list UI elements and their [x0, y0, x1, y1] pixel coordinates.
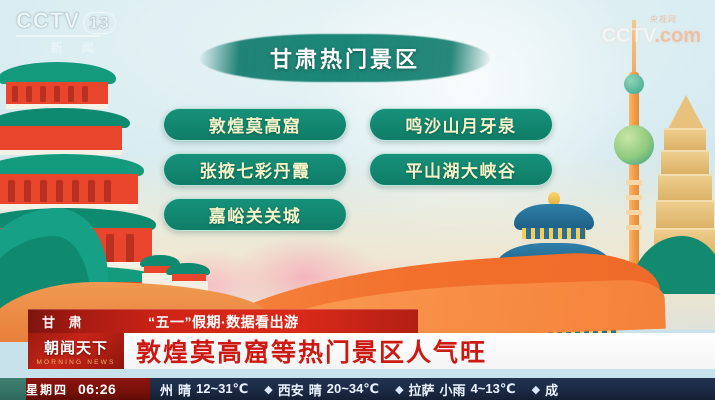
program-name-en: MORNING NEWS [36, 359, 115, 366]
program-name-cn: 朝闻天下 [44, 337, 108, 358]
cctv-logo-underline [16, 35, 100, 37]
weather-condition-2: 小雨 [440, 380, 466, 399]
spot-item-2: 张掖七彩丹霞 [163, 153, 347, 186]
weather-city-2: 拉萨 [409, 380, 435, 399]
weather-temp-1: 20~34℃ [327, 381, 379, 397]
weather-condition-0: 晴 [178, 380, 191, 399]
cctv-logo-text: CCTV [16, 8, 80, 33]
headline-text: 敦煌莫高窟等热门景区人气旺 [124, 333, 715, 369]
weekday-label: 星期四 [26, 381, 68, 398]
spot-item-1: 鸣沙山月牙泉 [369, 108, 553, 141]
weather-temp-0: 12~31℃ [196, 381, 248, 397]
cctv13-channel-logo: CCTV13 新 闻 [16, 8, 136, 52]
weather-item-0: 州 晴 12~31℃ [160, 380, 248, 399]
bullet-icon: ◆ [532, 383, 540, 396]
lower-third: 甘 肃 “五一”假期·数据看出游 朝闻天下 MORNING NEWS 敦煌莫高窟… [0, 305, 715, 400]
spot-item-placeholder [369, 198, 553, 231]
topic-label: “五一”假期·数据看出游 [148, 312, 299, 332]
ticker-left-cap [0, 378, 26, 400]
bullet-icon: ◆ [264, 383, 272, 396]
region-label: 甘 肃 [42, 312, 87, 331]
spot-row: 张掖七彩丹霞 平山湖大峡谷 [163, 153, 553, 186]
graphic-title-text: 甘肃热门景区 [200, 34, 490, 82]
graphic-title-banner: 甘肃热门景区 [200, 34, 490, 82]
weather-ticker: 州 晴 12~31℃ ◆ 西安 晴 20~34℃ ◆ 拉萨 小雨 4~13℃ [150, 380, 558, 399]
weather-temp-2: 4~13℃ [471, 381, 516, 397]
weather-city-1: 西安 [278, 380, 304, 399]
cctv-com-watermark: 央视网 CCTV.com [602, 14, 701, 48]
cctv-logo-subtitle: 新 闻 [16, 39, 136, 56]
spot-row: 敦煌莫高窟 鸣沙山月牙泉 [163, 108, 553, 141]
spot-item-4: 嘉峪关关城 [163, 198, 347, 231]
weather-item-3: ◆ 成 [532, 380, 558, 399]
weather-condition-1: 晴 [309, 380, 322, 399]
spot-item-3: 平山湖大峡谷 [369, 153, 553, 186]
clock-label: 06:26 [78, 381, 116, 397]
headline-row: 朝闻天下 MORNING NEWS 敦煌莫高窟等热门景区人气旺 [28, 333, 715, 369]
watermark-cctv-text: CCTV [602, 25, 655, 47]
program-logo: 朝闻天下 MORNING NEWS [28, 333, 124, 369]
weather-city-0: 州 [160, 380, 173, 399]
watermark-com-text: .com [654, 25, 701, 47]
spot-row: 嘉峪关关城 [163, 198, 553, 231]
broadcast-screenshot: CCTV13 新 闻 央视网 CCTV.com 甘肃热门景区 敦煌莫高窟 鸣沙山… [0, 0, 715, 400]
hot-scenic-spots-list: 敦煌莫高窟 鸣沙山月牙泉 张掖七彩丹霞 平山湖大峡谷 嘉峪关关城 [163, 108, 553, 243]
spot-item-0: 敦煌莫高窟 [163, 108, 347, 141]
cctv-channel-number: 13 [83, 12, 116, 34]
weather-city-3: 成 [545, 380, 558, 399]
bullet-icon: ◆ [395, 383, 403, 396]
weather-item-1: ◆ 西安 晴 20~34℃ [264, 380, 379, 399]
topic-strap: 甘 肃 “五一”假期·数据看出游 [28, 309, 418, 333]
news-ticker-bar: 星期四 06:26 州 晴 12~31℃ ◆ 西安 晴 20~34℃ ◆ 拉萨 [0, 378, 715, 400]
weather-item-2: ◆ 拉萨 小雨 4~13℃ [395, 380, 516, 399]
watermark-chinese-text: 央视网 [602, 14, 677, 25]
